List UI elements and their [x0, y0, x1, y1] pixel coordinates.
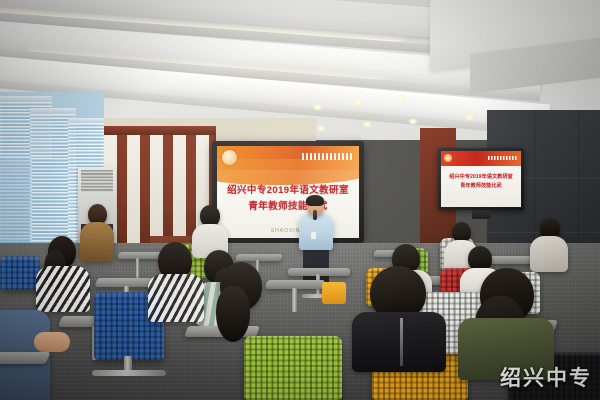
- wall-slat-2: [127, 134, 140, 250]
- side-slide-title-line-1: 绍兴中专2019年语文教研室: [441, 173, 521, 180]
- chair-blue-far-left[interactable]: [0, 256, 40, 290]
- classroom-photo: 绍兴中专2019年语文教研室 青年教师技能比武 SHAOXING 绍兴中专201…: [0, 0, 600, 400]
- downlight-5: [362, 122, 372, 127]
- attendee-far-right-torso: [530, 236, 568, 272]
- downlight-2: [352, 99, 363, 105]
- ac-grille: [81, 170, 113, 192]
- desk-foreground-left: [0, 352, 50, 364]
- attendee-right-black-zipper: [400, 318, 403, 366]
- side-slide-title-line-2: 青年教师技能比武: [441, 182, 521, 189]
- presenter-hair: [306, 195, 324, 206]
- chair-green-front[interactable]: [244, 336, 342, 400]
- desk-back-center: [235, 254, 283, 261]
- slide-logo-text: [302, 153, 354, 160]
- downlight-4: [316, 126, 326, 131]
- attendee-left-striped-torso: [36, 266, 90, 312]
- attendee-left-floral-torso: [80, 222, 114, 262]
- slide-title-line-1: 绍兴中专2019年语文教研室: [217, 182, 359, 196]
- window-blind-3: [0, 160, 32, 242]
- wall-slat-3: [150, 134, 163, 250]
- projection-screen[interactable]: 绍兴中专2019年语文教研室 青年教师技能比武 SHAOXING: [212, 141, 364, 243]
- chair-blue-front-left-base: [92, 370, 166, 376]
- slide-title-line-2: 青年教师技能比武: [217, 198, 359, 212]
- wall-rib-top: [96, 126, 216, 135]
- slide-footer-text: SHAOXING: [217, 228, 359, 234]
- stool-orange[interactable]: [322, 282, 346, 304]
- side-monitor[interactable]: 绍兴中专2019年语文教研室 青年教师技能比武: [438, 148, 524, 210]
- desk-mid-center-leg: [292, 288, 297, 312]
- monitor-stand: [472, 210, 490, 219]
- attendee-right-black-torso: [352, 312, 446, 372]
- downlight-1: [312, 104, 323, 110]
- slide-emblem-icon: [222, 150, 237, 165]
- venue-watermark: 绍兴中专: [500, 362, 592, 392]
- side-slide-content: 绍兴中专2019年语文教研室 青年教师技能比武: [441, 151, 521, 207]
- downlight-3: [396, 95, 407, 101]
- downlight-6: [408, 119, 418, 124]
- slide-content: 绍兴中专2019年语文教研室 青年教师技能比武 SHAOXING: [217, 146, 359, 238]
- side-slide-logo-text: [488, 156, 518, 160]
- desk-back-left: [117, 252, 163, 259]
- side-slide-emblem-icon: [444, 154, 452, 162]
- attendee-front-left-hair: [216, 286, 250, 342]
- attendee-bottom-left-arm: [34, 332, 70, 352]
- downlight-7: [464, 114, 475, 120]
- wall-slat-4: [173, 134, 186, 250]
- presenter-badge: [311, 232, 316, 239]
- attendee-center-green-torso: [148, 274, 204, 322]
- desk-back-left-leg: [136, 258, 139, 278]
- microphone-icon: [313, 210, 317, 220]
